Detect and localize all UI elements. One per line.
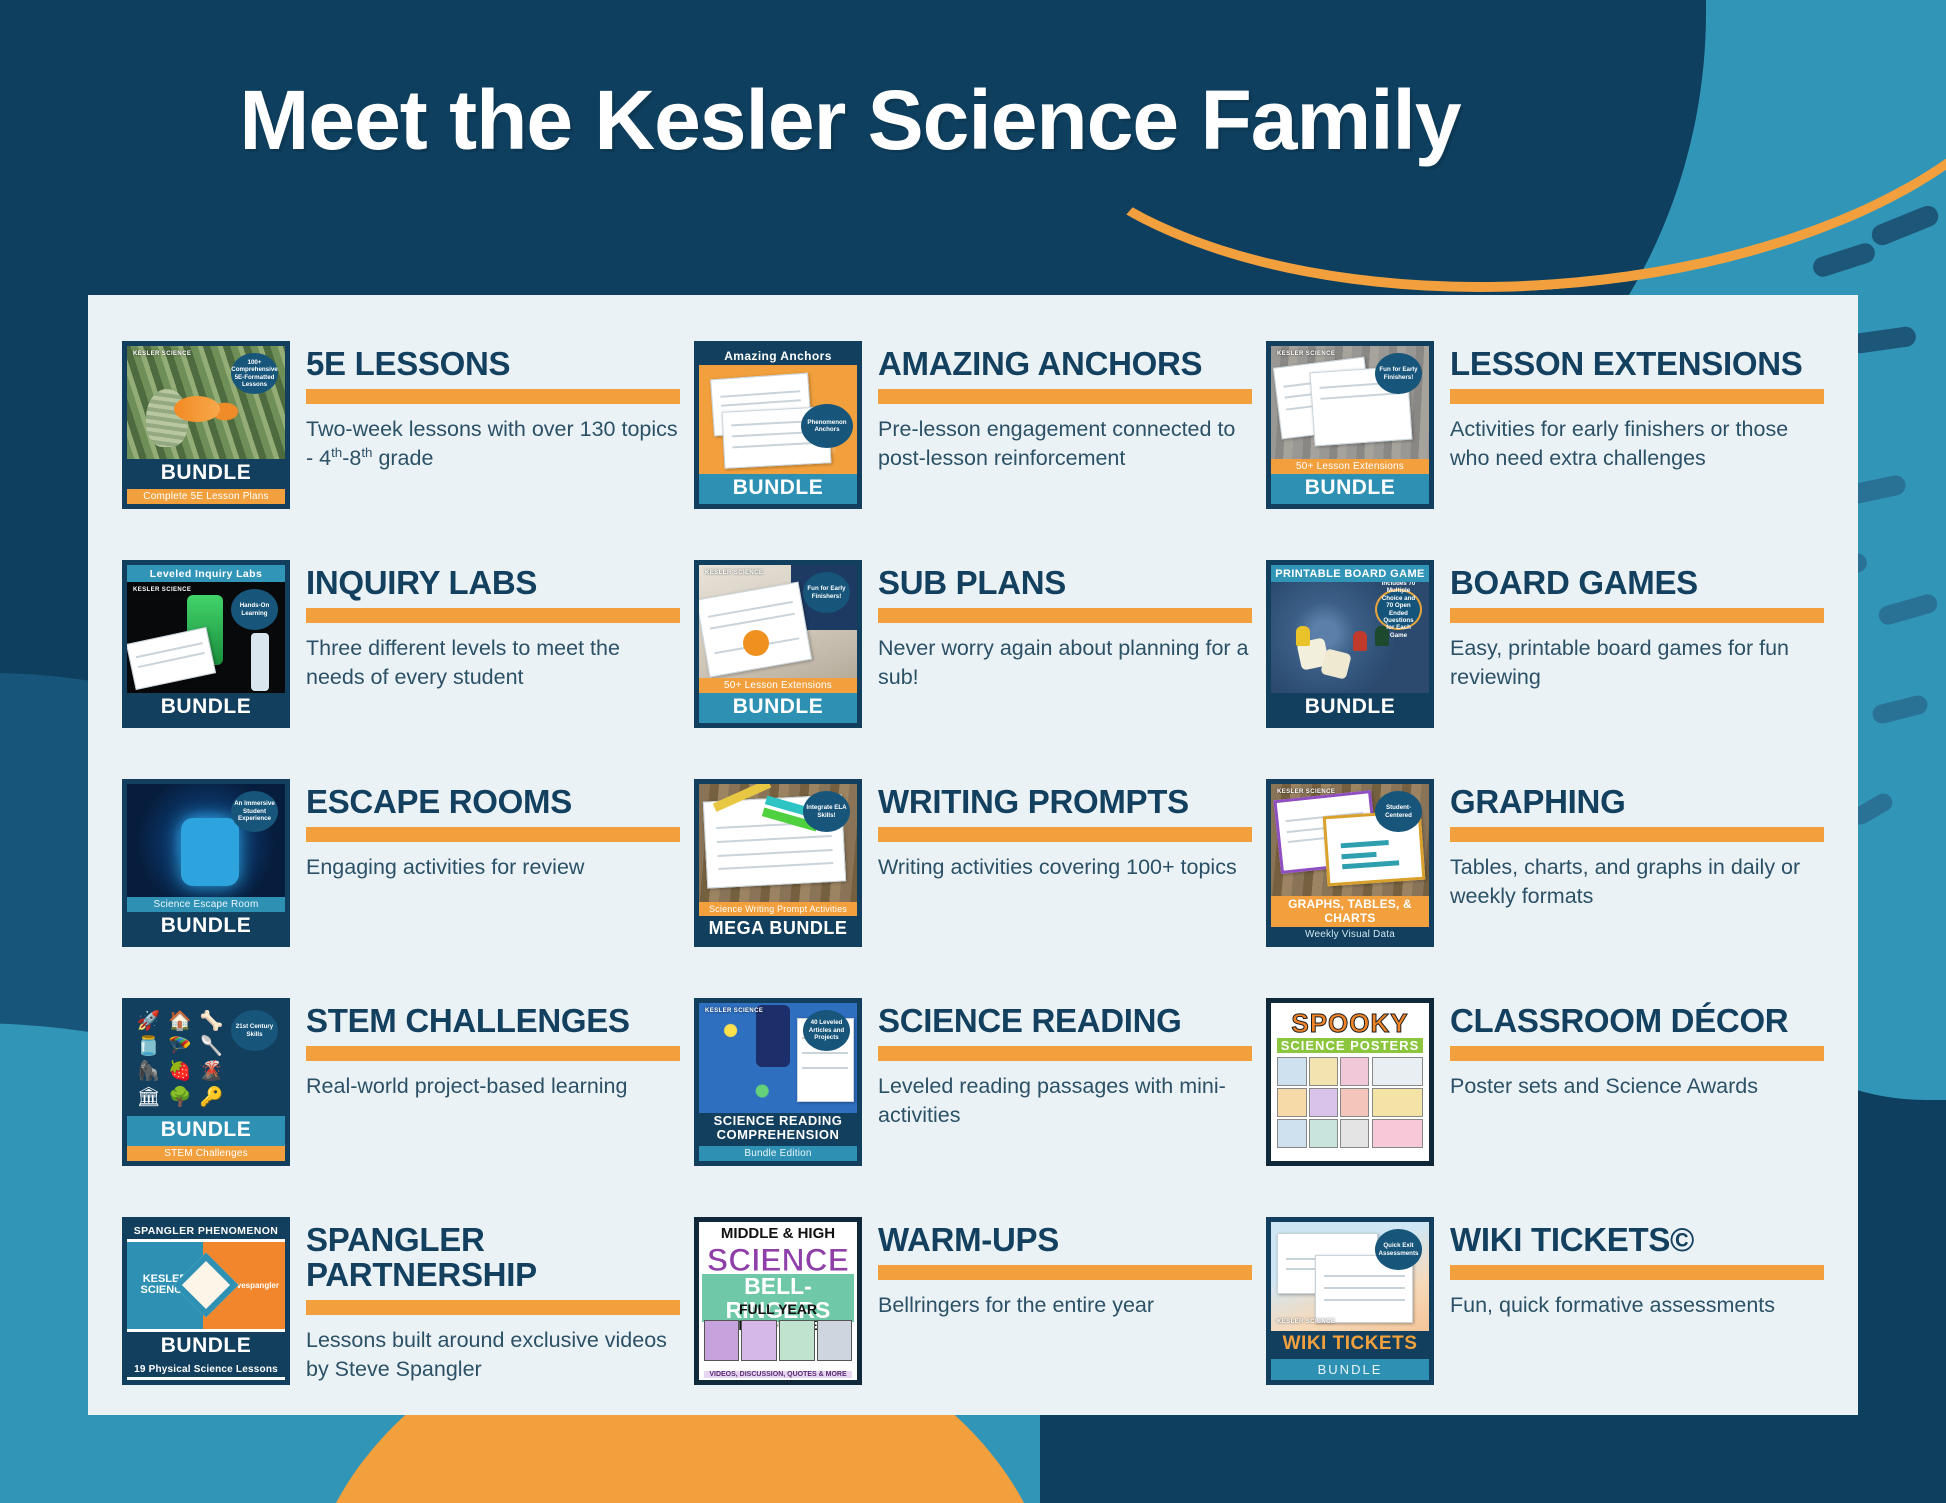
product-card[interactable]: KESLER SCIENCE Fun for Early Finishers! … (1266, 341, 1824, 560)
orange-rule (306, 1300, 680, 1315)
orange-rule (878, 389, 1252, 404)
thumbnail-art: 🚀 🏠 🦴 🫙 🪂 🥄 🦍 🍓 🌋 🏛 🌳 🔑 21st Centur (127, 1003, 285, 1116)
product-description: Pre-lesson engagement connected to post-… (878, 415, 1252, 472)
thumbnail-badge: Phenomenon Anchors (801, 404, 853, 448)
product-text: SCIENCE READING Leveled reading passages… (878, 998, 1252, 1129)
product-text: WRITING PROMPTS Writing activities cover… (878, 779, 1252, 882)
thumbnail-art: KESLER SCIENCE Quick Exit Assessments (1271, 1222, 1429, 1331)
thumbnail-art: KESLER SCIENCE Fun for Early Finishers! (699, 565, 857, 678)
thumbnail-bundle-label: SCIENCE READING COMPREHENSION (699, 1113, 857, 1146)
product-thumbnail[interactable]: KESLER SCIENCE Fun for Early Finishers! … (694, 560, 862, 728)
game-piece-icon (1296, 626, 1310, 646)
product-card[interactable]: An Immersive Student Experience Science … (122, 779, 680, 998)
product-card[interactable]: Leveled Inquiry Labs KESLER SCIENCE Hand… (122, 560, 680, 779)
thumbnail-art: KESLER SCIENCE Hands-On Learning (127, 582, 285, 693)
rocket-icon: 🚀 (135, 1011, 162, 1032)
kesler-logo-icon: KESLER SCIENCE (705, 1008, 763, 1014)
cover-thumbnail-row (704, 1320, 853, 1361)
product-title: INQUIRY LABS (306, 566, 680, 601)
product-text: INQUIRY LABS Three different levels to m… (306, 560, 680, 691)
thumbnail-art: SPOOKY SCIENCE POSTERS (1271, 1003, 1429, 1161)
orange-rule (878, 827, 1252, 842)
orange-rule (1450, 389, 1824, 404)
poster-side-grid (1372, 1057, 1423, 1149)
product-description: Never worry again about planning for a s… (878, 634, 1252, 691)
thumbnail-badge: Fun for Early Finishers! (803, 572, 850, 613)
orange-rule (1450, 827, 1824, 842)
product-card[interactable]: SPANGLER PHENOMENON KESLER SCIENCE steve… (122, 1217, 680, 1436)
product-title: 5E LESSONS (306, 347, 680, 382)
product-thumbnail[interactable]: SPANGLER PHENOMENON KESLER SCIENCE steve… (122, 1217, 290, 1385)
test-tube-icon (251, 633, 269, 691)
product-text: CLASSROOM DÉCOR Poster sets and Science … (1450, 998, 1824, 1101)
kesler-logo-icon: KESLER SCIENCE (1277, 789, 1335, 795)
thumbnail-badge: 40 Leveled Articles and Projects (803, 1010, 850, 1051)
orange-rule (306, 827, 680, 842)
orange-rule (878, 1046, 1252, 1061)
product-card[interactable]: KESLER SCIENCE Quick Exit Assessments WI… (1266, 1217, 1824, 1436)
product-title: SCIENCE READING (878, 1004, 1252, 1039)
product-description: Leveled reading passages with mini-activ… (878, 1072, 1252, 1129)
kesler-logo-icon: KESLER SCIENCE (705, 570, 763, 576)
thumbnail-bundle-label: BUNDLE (127, 912, 285, 942)
orange-rule (1450, 1265, 1824, 1280)
product-card[interactable]: MIDDLE & HIGH SCIENCE BELL-RINGERS FULL … (694, 1217, 1252, 1436)
thumbnail-badge: Fun for Early Finishers! (1375, 353, 1422, 394)
orange-rule (306, 608, 680, 623)
product-thumbnail[interactable]: SPOOKY SCIENCE POSTERS (1266, 998, 1434, 1166)
thumbnail-bundle-label: BUNDLE (127, 1116, 285, 1146)
product-title: CLASSROOM DÉCOR (1450, 1004, 1824, 1039)
product-thumbnail[interactable]: KESLER SCIENCE 40 Leveled Articles and P… (694, 998, 862, 1166)
poster-thumbnail-grid (1277, 1057, 1369, 1149)
product-description: Three different levels to meet the needs… (306, 634, 680, 691)
product-text: WARM-UPS Bellringers for the entire year (878, 1217, 1252, 1320)
thumbnail-top-label: Leveled Inquiry Labs (127, 565, 285, 582)
product-thumbnail[interactable]: KESLER SCIENCE Student-Centered GRAPHS, … (1266, 779, 1434, 947)
product-text: 5E LESSONS Two-week lessons with over 13… (306, 341, 680, 472)
poster-title: SPOOKY (1277, 1008, 1422, 1039)
kesler-logo-icon: KESLER SCIENCE (1277, 1319, 1335, 1325)
game-piece-icon (1353, 631, 1367, 651)
thumbnail-badge: An Immersive Student Experience (231, 791, 278, 832)
product-thumbnail[interactable]: Integrate ELA Skills! Science Writing Pr… (694, 779, 862, 947)
product-thumbnail[interactable]: Amazing Anchors Phenomenon Anchors BUNDL… (694, 341, 862, 509)
thumbnail-caption: Bundle Edition (699, 1146, 857, 1161)
thumbnail-caption: STEM Challenges (127, 1146, 285, 1161)
product-text: SPANGLER PARTNERSHIP Lessons built aroun… (306, 1217, 680, 1383)
thumbnail-art: An Immersive Student Experience (127, 784, 285, 897)
product-card[interactable]: KESLER SCIENCE Student-Centered GRAPHS, … (1266, 779, 1824, 998)
product-title: AMAZING ANCHORS (878, 347, 1252, 382)
thumbnail-badge: Quick Exit Assessments (1375, 1229, 1422, 1270)
product-text: SUB PLANS Never worry again about planni… (878, 560, 1252, 691)
thumbnail-bundle-label: BUNDLE (1271, 474, 1429, 504)
product-title: WARM-UPS (878, 1223, 1252, 1258)
thumbnail-bundle-label: BUNDLE (127, 693, 285, 723)
product-title: WRITING PROMPTS (878, 785, 1252, 820)
animal-icon: 🦍 (135, 1061, 162, 1082)
thumbnail-badge: Includes 70 Multiple Choice and 70 Open … (1375, 589, 1422, 630)
orange-rule (878, 1265, 1252, 1280)
kesler-logo-icon: KESLER SCIENCE (133, 587, 191, 593)
building-icon: 🏛 (135, 1087, 162, 1108)
product-description: Poster sets and Science Awards (1450, 1072, 1824, 1101)
product-thumbnail[interactable]: KESLER SCIENCE Quick Exit Assessments WI… (1266, 1217, 1434, 1385)
product-card[interactable]: Integrate ELA Skills! Science Writing Pr… (694, 779, 1252, 998)
thumbnail-caption: BUNDLE (1271, 1359, 1429, 1380)
product-card[interactable]: SPOOKY SCIENCE POSTERS CLASSROOM DÉCO (1266, 998, 1824, 1217)
thumbnail-caption: Complete 5E Lesson Plans (127, 489, 285, 504)
product-description: Easy, printable board games for fun revi… (1450, 634, 1824, 691)
thumbnail-badge: 100+ Comprehensive 5E-Formatted Lessons (231, 353, 278, 394)
thumbnail-bundle-label: BUNDLE (127, 459, 285, 489)
products-grid: KESLER SCIENCE 100+ Comprehensive 5E-For… (122, 341, 1824, 1436)
product-thumbnail[interactable]: 🚀 🏠 🦴 🫙 🪂 🥄 🦍 🍓 🌋 🏛 🌳 🔑 21st Centur (122, 998, 290, 1166)
product-text: AMAZING ANCHORS Pre-lesson engagement co… (878, 341, 1252, 472)
thumbnail-top-label: SPANGLER PHENOMENON (127, 1222, 285, 1239)
thumbnail-top-label: PRINTABLE BOARD GAME (1271, 565, 1429, 582)
page-title: Meet the Kesler Science Family (0, 72, 1700, 169)
thumbnail-art: KESLER SCIENCE Student-Centered (1271, 784, 1429, 896)
terrarium-icon: 🫙 (135, 1036, 162, 1057)
product-thumbnail[interactable]: KESLER SCIENCE Fun for Early Finishers! … (1266, 341, 1434, 509)
product-text: STEM CHALLENGES Real-world project-based… (306, 998, 680, 1101)
catapult-icon: 🥄 (198, 1036, 225, 1057)
thumbnail-caption: 50+ Lesson Extensions (699, 678, 857, 693)
thumbnail-art: KESLER SCIENCE 40 Leveled Articles and P… (699, 1003, 857, 1113)
thumbnail-badge: Hands-On Learning (231, 589, 278, 630)
thumbnail-art: Phenomenon Anchors (699, 365, 857, 474)
thumbnail-art: MIDDLE & HIGH SCIENCE BELL-RINGERS FULL … (699, 1222, 857, 1380)
cover-line-2: SCIENCE (702, 1244, 854, 1276)
product-text: LESSON EXTENSIONS Activities for early f… (1450, 341, 1824, 472)
thumbnail-caption: Weekly Visual Data (1271, 927, 1429, 942)
skeleton-icon: 🦴 (198, 1011, 225, 1032)
product-description: Two-week lessons with over 130 topics - … (306, 415, 680, 472)
product-text: WIKI TICKETS© Fun, quick formative asses… (1450, 1217, 1824, 1320)
product-thumbnail[interactable]: MIDDLE & HIGH SCIENCE BELL-RINGERS FULL … (694, 1217, 862, 1385)
thumbnail-art: KESLER SCIENCE Fun for Early Finishers! (1271, 346, 1429, 459)
thumbnail-art: Integrate ELA Skills! (699, 784, 857, 902)
orange-rule (878, 608, 1252, 623)
product-title: WIKI TICKETS© (1450, 1223, 1824, 1258)
product-text: GRAPHING Tables, charts, and graphs in d… (1450, 779, 1824, 910)
orange-rule (306, 389, 680, 404)
thumbnail-caption: Science Writing Prompt Activities (699, 902, 857, 916)
product-description: Lessons built around exclusive videos by… (306, 1326, 680, 1383)
product-card[interactable]: KESLER SCIENCE 100+ Comprehensive 5E-For… (122, 341, 680, 560)
kesler-logo-icon: KESLER SCIENCE (1277, 351, 1335, 357)
microscope-icon (756, 1005, 790, 1067)
tree-icon: 🌳 (166, 1087, 193, 1108)
thumbnail-bundle-label: BUNDLE (1271, 693, 1429, 723)
strawberry-icon: 🍓 (166, 1061, 193, 1082)
product-thumbnail[interactable]: KESLER SCIENCE 100+ Comprehensive 5E-For… (122, 341, 290, 509)
product-card[interactable]: Amazing Anchors Phenomenon Anchors BUNDL… (694, 341, 1252, 560)
thumbnail-badge: Integrate ELA Skills! (803, 791, 850, 832)
product-description: Writing activities covering 100+ topics (878, 853, 1252, 882)
product-title: SUB PLANS (878, 566, 1252, 601)
thumbnail-caption: 19 Physical Science Lessons (127, 1362, 285, 1380)
product-text: ESCAPE ROOMS Engaging activities for rev… (306, 779, 680, 882)
thumbnail-art: KESLER SCIENCE 100+ Comprehensive 5E-For… (127, 346, 285, 459)
product-description: Engaging activities for review (306, 853, 680, 882)
thumbnail-art: KESLER SCIENCE stevespangler (127, 1239, 285, 1332)
cover-line-1: MIDDLE & HIGH (702, 1225, 854, 1242)
product-title: GRAPHING (1450, 785, 1824, 820)
product-title: BOARD GAMES (1450, 566, 1824, 601)
product-thumbnail[interactable]: Leveled Inquiry Labs KESLER SCIENCE Hand… (122, 560, 290, 728)
product-description: Fun, quick formative assessments (1450, 1291, 1824, 1320)
kesler-logo-icon: KESLER SCIENCE (133, 351, 191, 357)
birdhouse-icon: 🏠 (166, 1011, 193, 1032)
volcano-icon: 🌋 (198, 1061, 225, 1082)
product-title: STEM CHALLENGES (306, 1004, 680, 1039)
cover-footer-strip: VIDEOS, DISCUSSION, QUOTES & MORE (704, 1371, 853, 1378)
thumbnail-bundle-label: BUNDLE (127, 1332, 285, 1362)
product-card[interactable]: 🚀 🏠 🦴 🫙 🪂 🥄 🦍 🍓 🌋 🏛 🌳 🔑 21st Centur (122, 998, 680, 1217)
thumbnail-bundle-label: BUNDLE (699, 693, 857, 723)
product-description: Tables, charts, and graphs in daily or w… (1450, 853, 1824, 910)
parachute-icon: 🪂 (166, 1036, 193, 1057)
product-title: ESCAPE ROOMS (306, 785, 680, 820)
thumbnail-caption: 50+ Lesson Extensions (1271, 459, 1429, 474)
product-text: BOARD GAMES Easy, printable board games … (1450, 560, 1824, 691)
product-card[interactable]: KESLER SCIENCE Fun for Early Finishers! … (694, 560, 1252, 779)
product-description: Real-world project-based learning (306, 1072, 680, 1101)
orange-rule (1450, 1046, 1824, 1061)
thumbnail-bundle-label: BUNDLE (699, 474, 857, 504)
product-title: SPANGLER PARTNERSHIP (306, 1223, 680, 1293)
thumbnail-badge: 21st Century Skills (231, 1010, 278, 1051)
product-title: LESSON EXTENSIONS (1450, 347, 1824, 382)
thumbnail-bundle-label: GRAPHS, TABLES, & CHARTS (1271, 896, 1429, 927)
thumbnail-bundle-label: MEGA BUNDLE (699, 916, 857, 943)
products-panel: KESLER SCIENCE 100+ Comprehensive 5E-For… (88, 295, 1858, 1415)
product-description: Bellringers for the entire year (878, 1291, 1252, 1320)
thumbnail-top-label: Amazing Anchors (699, 346, 857, 365)
product-thumbnail[interactable]: An Immersive Student Experience Science … (122, 779, 290, 947)
poster-subtitle: SCIENCE POSTERS (1277, 1038, 1422, 1053)
thumbnail-bundle-label: WIKI TICKETS (1271, 1331, 1429, 1359)
key-icon: 🔑 (198, 1087, 225, 1108)
thumbnail-caption: Science Escape Room (127, 897, 285, 912)
thumbnail-art: Includes 70 Multiple Choice and 70 Open … (1271, 582, 1429, 693)
product-card[interactable]: PRINTABLE BOARD GAME Includes 70 Multipl… (1266, 560, 1824, 779)
product-card[interactable]: KESLER SCIENCE 40 Leveled Articles and P… (694, 998, 1252, 1217)
thumbnail-badge: Student-Centered (1375, 791, 1422, 832)
product-description: Activities for early finishers or those … (1450, 415, 1824, 472)
orange-rule (1450, 608, 1824, 623)
product-thumbnail[interactable]: PRINTABLE BOARD GAME Includes 70 Multipl… (1266, 560, 1434, 728)
orange-rule (306, 1046, 680, 1061)
